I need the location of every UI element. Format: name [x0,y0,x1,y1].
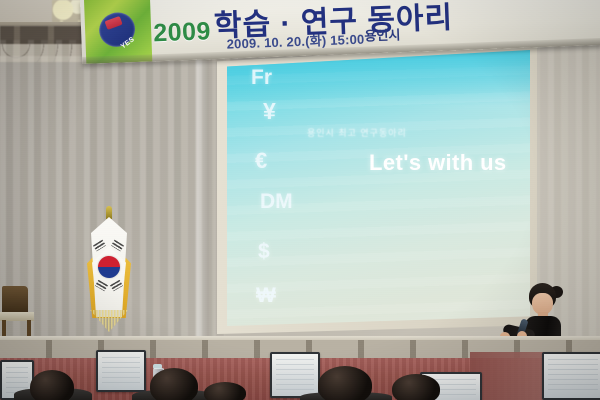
audience-head [150,368,198,400]
audience-head [392,374,440,400]
presentation-photo: Fr ¥ € DM $ ₩ 용인시 최고 연구동아리 Let's with us… [0,0,600,400]
banner-city: 용인시 [364,24,401,44]
audience-head [318,366,372,400]
laptop [96,350,142,388]
curtain-edge [196,40,212,358]
wooden-armchair [0,286,36,342]
flag-fringe [90,310,128,332]
banner-year: 2009 [153,17,212,48]
laptop [542,352,600,396]
slide-headline: Let's with us [369,150,507,176]
yen-icon: ¥ [263,98,276,125]
slide-korean-subtitle: 용인시 최고 연구동아리 [307,126,407,139]
audience-head [30,370,74,400]
audience-head [204,382,246,400]
euro-icon: € [255,148,267,174]
won-icon: ₩ [256,284,276,308]
logo-text: YES [120,36,136,50]
south-korea-flag [87,206,131,334]
swiss-franc-icon: Fr [251,66,272,90]
deutsche-mark-icon: DM [260,190,293,214]
dollar-icon: $ [258,240,270,264]
projection-screen: Fr ¥ € DM $ ₩ 용인시 최고 연구동아리 Let's with us [227,50,530,326]
laptop [270,352,316,394]
